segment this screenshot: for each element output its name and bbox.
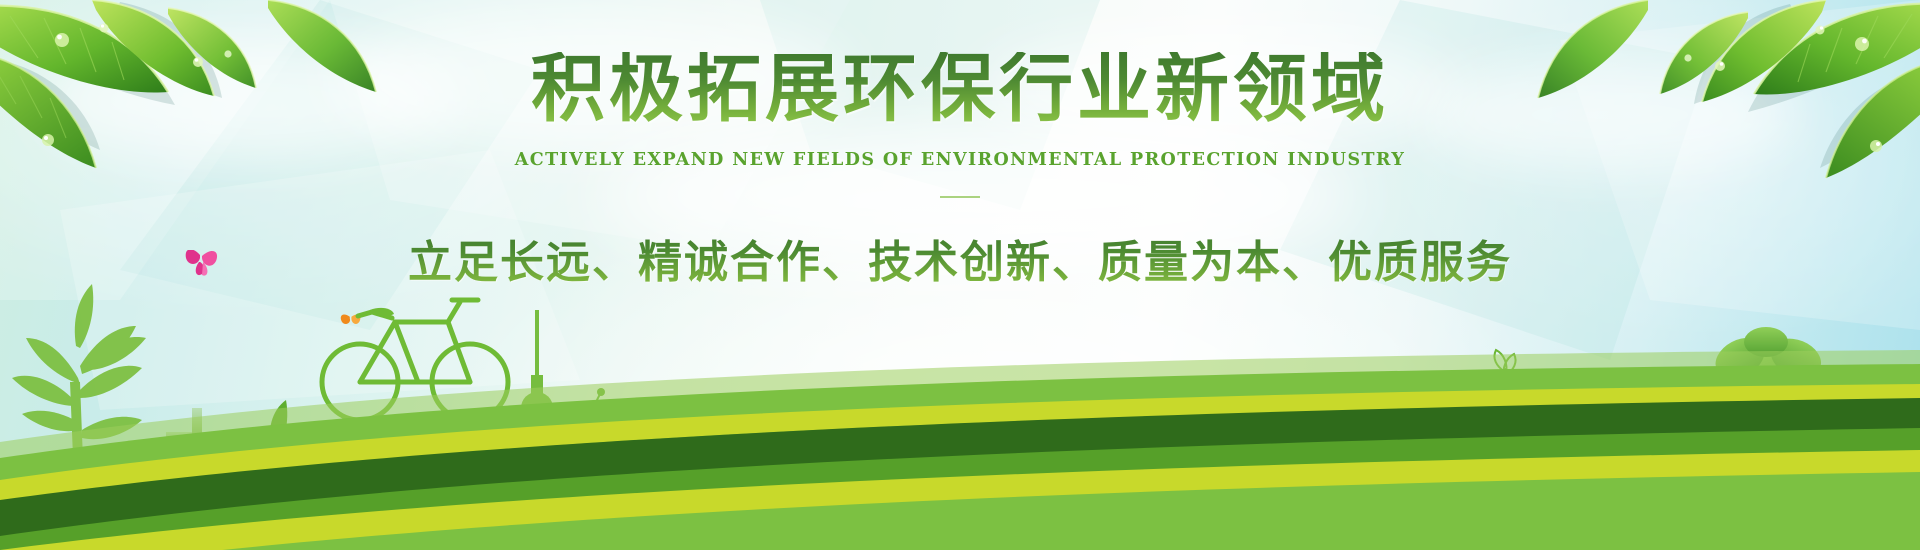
page-subtitle: ACTIVELY EXPAND NEW FIELDS OF ENVIRONMEN…: [0, 150, 1920, 170]
divider: [940, 196, 980, 198]
page-title: 积极拓展环保行业新领域: [0, 52, 1920, 126]
wave-bands: [0, 350, 1920, 550]
page-tagline: 立足长远、精诚合作、技术创新、质量为本、优质服务: [0, 226, 1920, 290]
bicycle-seat: [370, 308, 394, 317]
eco-banner: 积极拓展环保行业新领域 ACTIVELY EXPAND NEW FIELDS O…: [0, 0, 1920, 550]
headline-block: 积极拓展环保行业新领域 ACTIVELY EXPAND NEW FIELDS O…: [0, 52, 1920, 290]
